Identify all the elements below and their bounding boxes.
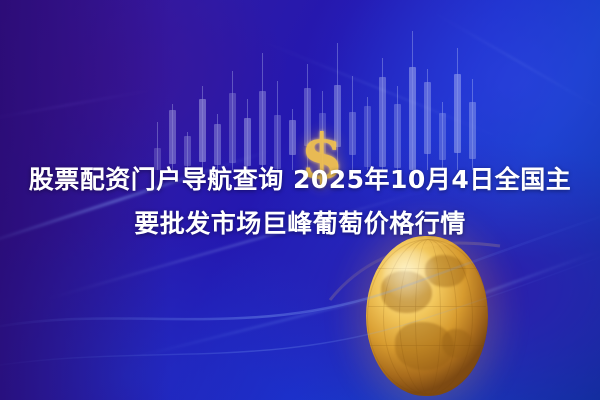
- candlestick-bar: [379, 58, 385, 170]
- candlestick-body: [409, 67, 415, 170]
- candlestick-bar: [259, 53, 265, 170]
- candlestick-bar: [229, 71, 235, 170]
- candlestick-body: [379, 77, 385, 166]
- globe-parallel: [368, 306, 485, 309]
- candlestick-body: [424, 82, 430, 154]
- globe-sphere: [366, 236, 488, 396]
- candlestick-bar: [469, 79, 475, 170]
- candlestick-body: [229, 93, 235, 162]
- candlestick-body: [259, 91, 265, 166]
- title-line-1: 股票配资门户导航查询 2025年10月4日全国主: [16, 158, 584, 202]
- candlestick-body: [289, 120, 295, 155]
- candlestick-body: [169, 110, 175, 164]
- page-title: 股票配资门户导航查询 2025年10月4日全国主 要批发市场巨峰葡萄价格行情: [0, 158, 600, 246]
- candlestick-bar: [274, 81, 280, 170]
- candlestick-body: [454, 74, 460, 153]
- candlestick-body: [469, 102, 475, 159]
- candlestick-body: [349, 112, 355, 155]
- candlestick-body: [439, 113, 445, 160]
- globe-parallel: [368, 345, 485, 348]
- promo-banner-image: $ 股票配资门户导航查询 2025年1: [0, 0, 600, 400]
- candlestick-bar: [409, 31, 415, 170]
- globe-highlight: [383, 249, 439, 300]
- candlestick-body: [199, 99, 205, 163]
- golden-globe-graphic: [366, 236, 488, 396]
- candlestick-bar: [349, 76, 355, 170]
- candlestick-bar: [424, 69, 430, 170]
- candlestick-bar: [454, 48, 460, 170]
- title-line-2: 要批发市场巨峰葡萄价格行情: [16, 202, 584, 246]
